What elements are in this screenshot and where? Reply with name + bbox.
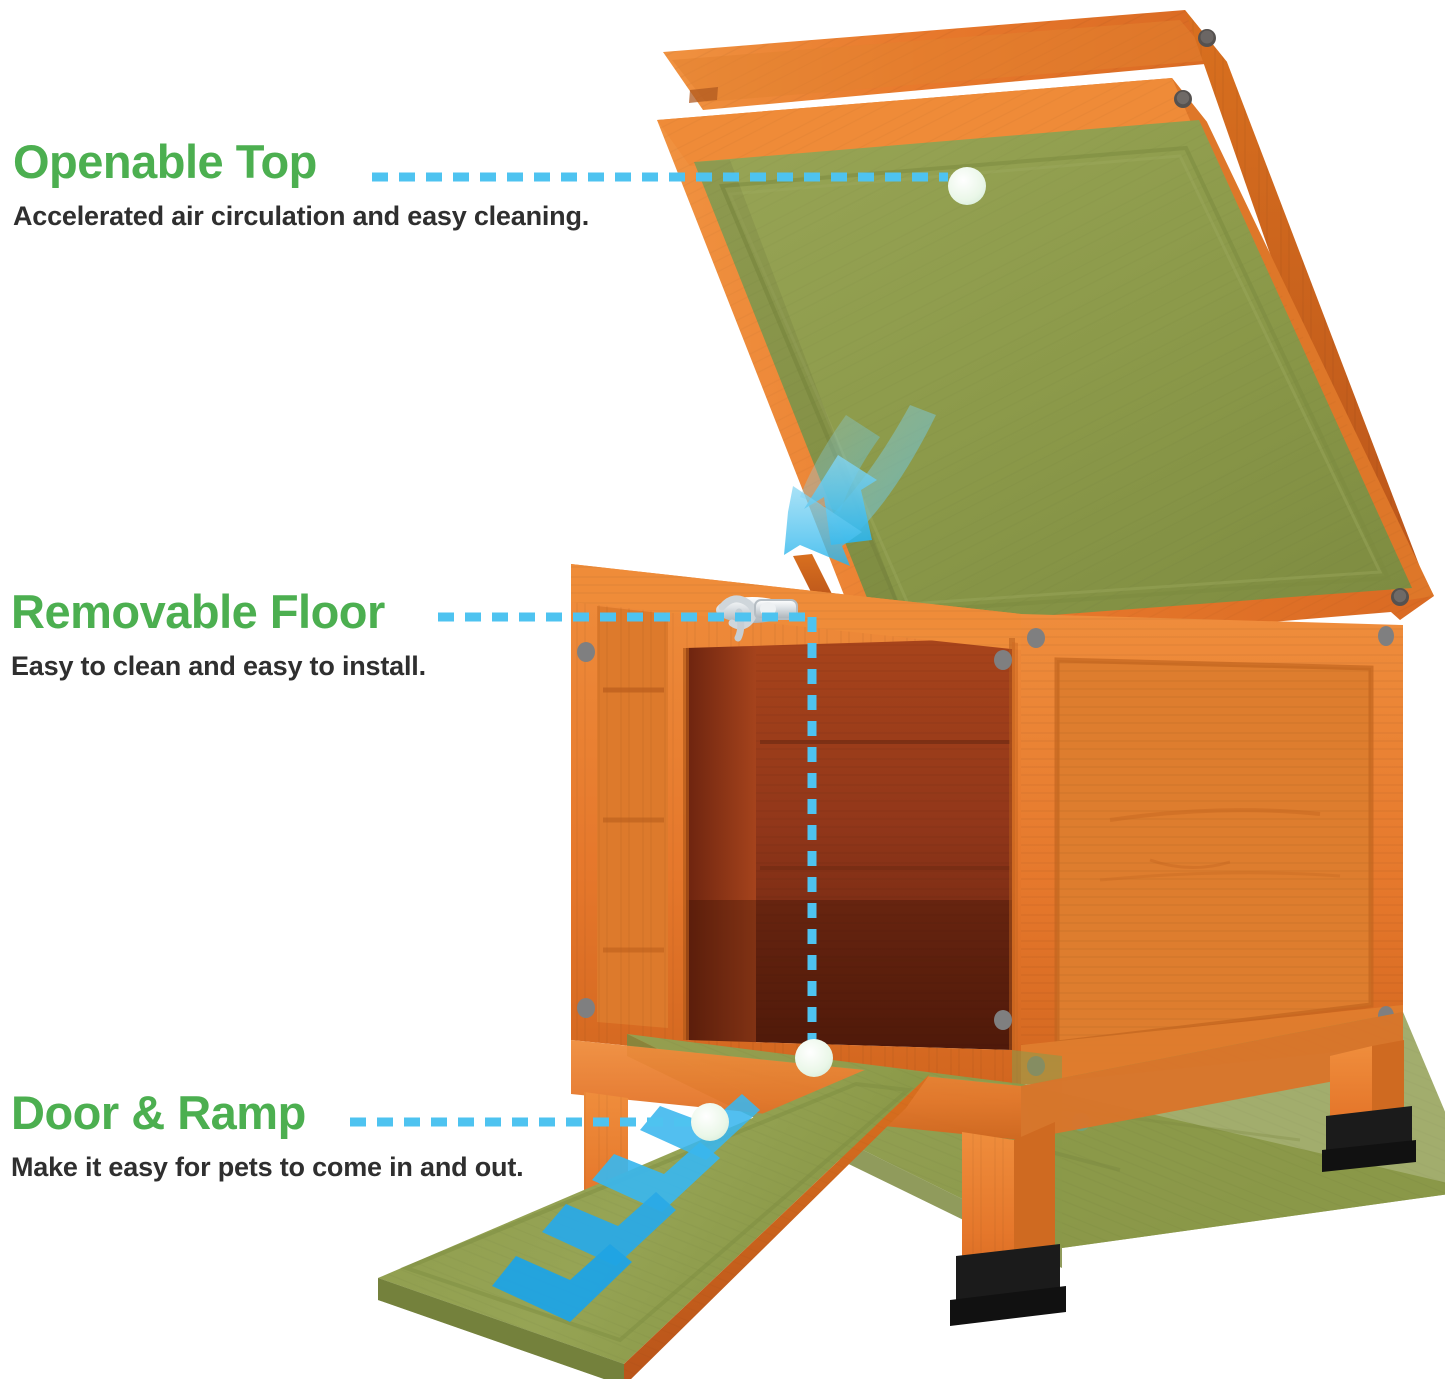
leader-dot-door-ramp xyxy=(691,1103,729,1141)
callout-subtitle-openable-top: Accelerated air circulation and easy cle… xyxy=(13,202,589,232)
openable-lid[interactable] xyxy=(657,78,1434,656)
callout-openable-top: Openable Top Accelerated air circulation… xyxy=(13,138,589,232)
callout-subtitle-door-and-ramp: Make it easy for pets to come in and out… xyxy=(11,1153,523,1183)
right-side-panel xyxy=(1021,614,1403,1085)
callout-removable-floor: Removable Floor Easy to clean and easy t… xyxy=(11,588,426,682)
leader-dot-removable-floor xyxy=(795,1039,833,1077)
leader-dot-openable-top xyxy=(948,167,986,205)
infographic-page: Openable Top Accelerated air circulation… xyxy=(0,0,1445,1379)
callout-door-and-ramp: Door & Ramp Make it easy for pets to com… xyxy=(11,1089,523,1183)
callout-title-openable-top: Openable Top xyxy=(13,138,589,185)
callout-title-removable-floor: Removable Floor xyxy=(11,588,426,635)
callout-title-door-and-ramp: Door & Ramp xyxy=(11,1089,523,1136)
callout-subtitle-removable-floor: Easy to clean and easy to install. xyxy=(11,652,426,682)
openable-lid-assembly[interactable] xyxy=(657,10,1434,656)
front-right-stile xyxy=(1012,642,1018,1050)
